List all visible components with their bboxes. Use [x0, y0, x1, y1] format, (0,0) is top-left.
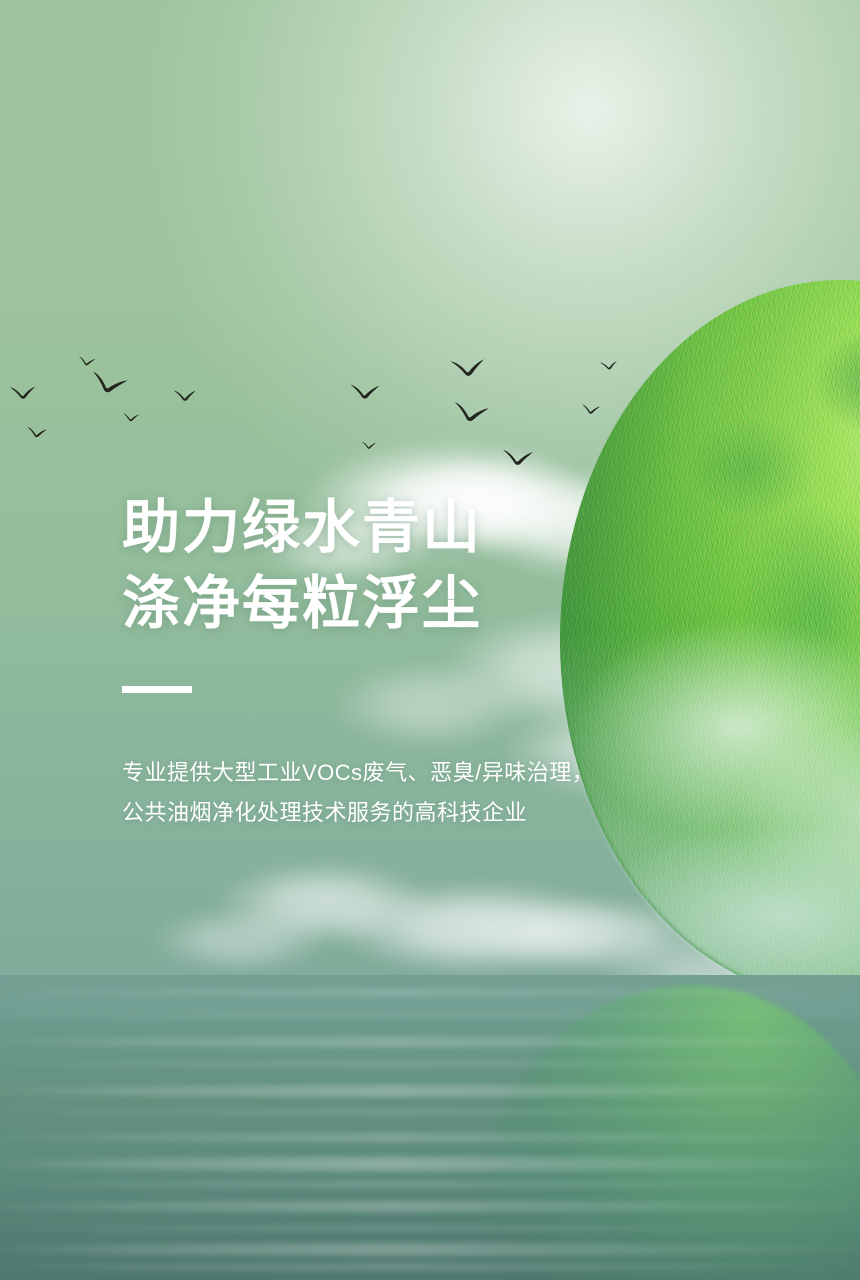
- subtitle-line-2: 公共油烟净化处理技术服务的高科技企业: [122, 793, 742, 833]
- wave-6: [0, 1109, 860, 1115]
- bird-12: [581, 403, 602, 415]
- wave-10: [0, 1201, 860, 1212]
- bird-11: [501, 448, 535, 466]
- bird-4: [172, 388, 198, 403]
- wave-5: [0, 1085, 860, 1097]
- wave-8: [0, 1157, 860, 1171]
- bird-1: [8, 383, 38, 401]
- wave-7: [0, 1133, 860, 1142]
- bird-10: [451, 400, 492, 425]
- bird-14: [815, 409, 836, 420]
- bird-7: [348, 382, 381, 401]
- headline-line-1: 助力绿水青山: [122, 490, 742, 566]
- hero-poster: 助力绿水青山 涤净每粒浮尘 专业提供大型工业VOCs废气、恶臭/异味治理， 公共…: [0, 0, 860, 1280]
- water-surface: [0, 975, 860, 1280]
- bird-15: [730, 428, 766, 449]
- bird-2: [77, 355, 96, 366]
- bird-8: [361, 441, 377, 450]
- subtitle-line-1: 专业提供大型工业VOCs废气、恶臭/异味治理，: [122, 753, 742, 793]
- headline-divider: [122, 686, 192, 693]
- wave-12: [0, 1243, 860, 1256]
- wave-4: [0, 1061, 860, 1067]
- wave-13: [0, 1263, 860, 1271]
- wave-2: [0, 1013, 860, 1018]
- headline-line-2: 涤净每粒浮尘: [122, 566, 742, 642]
- flying-birds: [0, 330, 470, 470]
- wave-11: [0, 1225, 860, 1231]
- bird-5: [26, 426, 49, 439]
- bird-6: [122, 412, 140, 422]
- wave-3: [0, 1037, 860, 1047]
- bird-3: [87, 369, 130, 397]
- cloud-11: [150, 905, 330, 975]
- hero-copy: 助力绿水青山 涤净每粒浮尘 专业提供大型工业VOCs废气、恶臭/异味治理， 公共…: [122, 490, 742, 833]
- wave-1: [0, 989, 860, 996]
- wave-9: [0, 1181, 860, 1188]
